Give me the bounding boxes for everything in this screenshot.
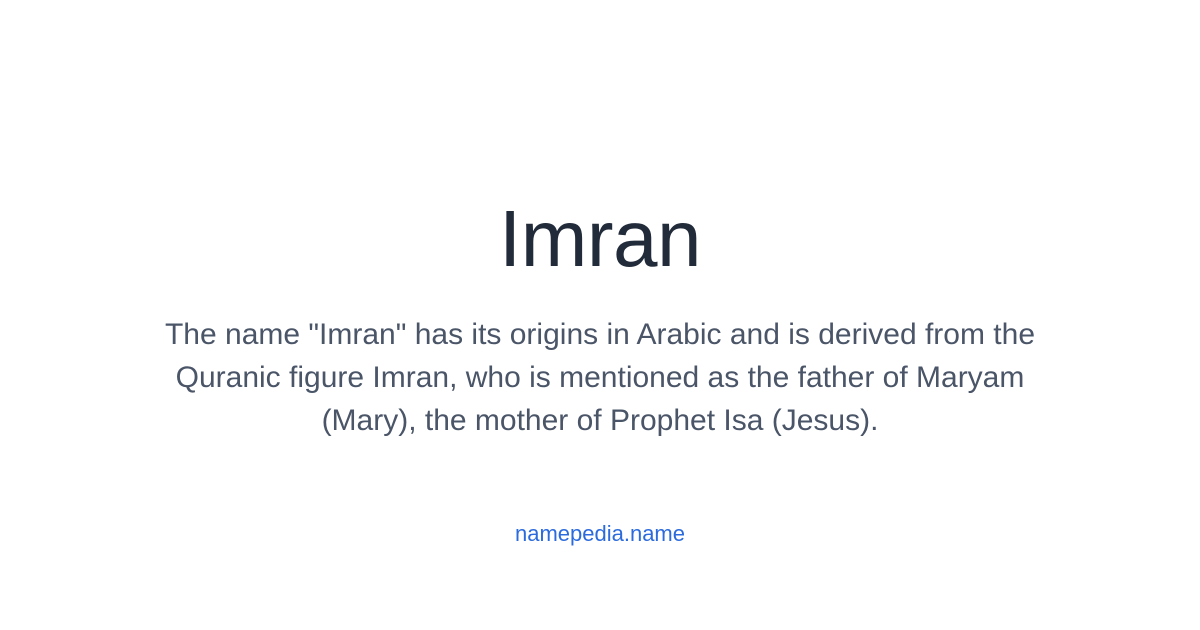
name-description: The name "Imran" has its origins in Arab… xyxy=(150,313,1050,442)
site-link[interactable]: namepedia.name xyxy=(0,520,1200,548)
page-title: Imran xyxy=(0,196,1200,282)
name-info-card: Imran The name "Imran" has its origins i… xyxy=(0,0,1200,630)
